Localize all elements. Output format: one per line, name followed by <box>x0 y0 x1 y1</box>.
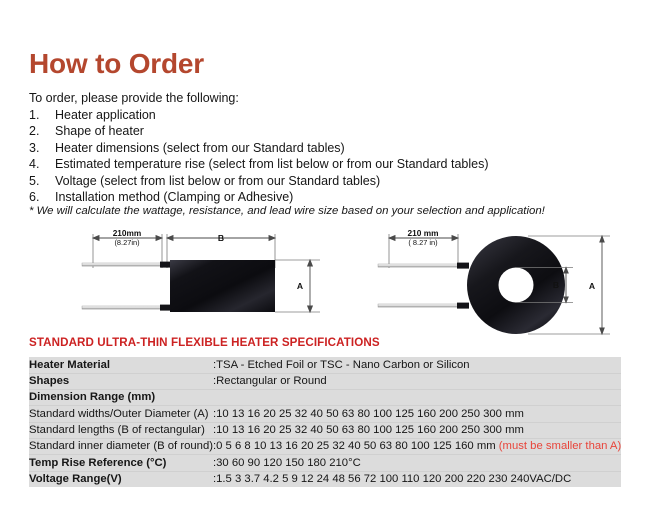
footnote-text: * We will calculate the wattage, resista… <box>29 205 545 217</box>
order-step-text: Shape of heater <box>55 124 619 138</box>
order-step-item: 5.Voltage (select from list below or fro… <box>29 174 619 190</box>
page-title: How to Order <box>29 50 204 78</box>
order-step-item: 4.Estimated temperature rise (select fro… <box>29 157 619 173</box>
round-lead-length-label-line1: 210 mm <box>408 228 439 238</box>
spec-table-row: Standard widths/Outer Diameter (A):10 13… <box>29 406 621 422</box>
spec-heading: STANDARD ULTRA-THIN FLEXIBLE HEATER SPEC… <box>29 336 380 349</box>
order-step-number: 2. <box>29 124 55 138</box>
rect-lead-length-label-line2: (8.27in) <box>114 238 139 247</box>
heater-diagrams: 210mm (8.27in) B A <box>0 228 650 336</box>
spec-table: Heater Material:TSA - Etched Foil or TSC… <box>29 357 621 487</box>
order-step-item: 1.Heater application <box>29 108 619 124</box>
intro-text: To order, please provide the following: <box>29 91 239 105</box>
spec-row-label: Standard inner diameter (B of round) <box>29 438 213 454</box>
spec-table-row: Standard lengths (B of rectangular):10 1… <box>29 422 621 438</box>
spec-table-row: Heater Material:TSA - Etched Foil or TSC… <box>29 357 621 373</box>
spec-table-row: Shapes:Rectangular or Round <box>29 373 621 389</box>
order-step-text: Heater dimensions (select from our Stand… <box>55 141 619 155</box>
order-step-number: 6. <box>29 190 55 204</box>
round-lead-length-label-line2: ( 8.27 in) <box>408 238 437 247</box>
spec-table-body: Heater Material:TSA - Etched Foil or TSC… <box>29 357 621 487</box>
spec-table-row: Dimension Range (mm) <box>29 390 621 406</box>
round-outer-diameter-label: A <box>589 281 595 291</box>
rectangular-heater-diagram: 210mm (8.27in) B A <box>62 228 344 336</box>
order-step-number: 1. <box>29 108 55 122</box>
rect-lead-length-label-line1: 210mm <box>113 228 142 238</box>
round-lead-connector-top <box>457 263 469 269</box>
spec-row-value: 10 13 16 20 25 32 40 50 63 80 100 125 16… <box>216 422 621 438</box>
spec-row-value: 10 13 16 20 25 32 40 50 63 80 100 125 16… <box>216 406 621 422</box>
order-step-text: Voltage (select from list below or from … <box>55 174 619 188</box>
round-lead-connector-bottom <box>457 303 469 309</box>
order-step-item: 2.Shape of heater <box>29 124 619 140</box>
spec-row-value-note: (must be smaller than A) <box>499 440 621 452</box>
order-step-text: Heater application <box>55 108 619 122</box>
spec-row-label: Temp Rise Reference (°C) <box>29 455 213 471</box>
spec-row-value <box>216 390 621 406</box>
rectangular-heater-body <box>170 260 275 312</box>
spec-table-row: Voltage Range(V):1.5 3 3.7 4.2 5 9 12 24… <box>29 471 621 487</box>
spec-row-value: 30 60 90 120 150 180 210°C <box>216 455 621 471</box>
spec-row-label: Dimension Range (mm) <box>29 390 213 406</box>
round-heater-body <box>467 236 565 334</box>
spec-table-row: Standard inner diameter (B of round):0 5… <box>29 438 621 454</box>
rect-height-dimension <box>308 260 313 312</box>
spec-row-value: Rectangular or Round <box>216 373 621 389</box>
spec-row-label: Standard widths/Outer Diameter (A) <box>29 406 213 422</box>
round-heater-inner-hole <box>499 268 534 303</box>
spec-row-value: 0 5 6 8 10 13 16 20 25 32 40 50 63 80 10… <box>216 438 621 454</box>
spec-table-row: Temp Rise Reference (°C):30 60 90 120 15… <box>29 455 621 471</box>
order-step-number: 4. <box>29 157 55 171</box>
order-step-item: 3.Heater dimensions (select from our Sta… <box>29 141 619 157</box>
spec-row-label: Heater Material <box>29 357 213 373</box>
order-steps-list: 1.Heater application2.Shape of heater3.H… <box>29 108 619 206</box>
spec-row-label: Voltage Range(V) <box>29 471 213 487</box>
order-step-number: 3. <box>29 141 55 155</box>
order-step-text: Installation method (Clamping or Adhesiv… <box>55 190 619 204</box>
order-step-item: 6.Installation method (Clamping or Adhes… <box>29 190 619 206</box>
order-step-number: 5. <box>29 174 55 188</box>
round-outer-dimension <box>600 236 604 334</box>
rect-height-label: A <box>297 281 303 291</box>
rect-width-label: B <box>218 233 224 243</box>
spec-row-value-text: 0 5 6 8 10 13 16 20 25 32 40 50 63 80 10… <box>216 440 499 452</box>
spec-row-label: Shapes <box>29 373 213 389</box>
round-inner-diameter-label: B <box>553 280 559 290</box>
spec-row-value: 1.5 3 3.7 4.2 5 9 12 24 48 56 72 100 110… <box>216 471 621 487</box>
order-step-text: Estimated temperature rise (select from … <box>55 157 619 171</box>
round-heater-diagram: 210 mm ( 8.27 in) B A <box>358 228 638 336</box>
rect-lead-wires <box>82 262 172 311</box>
spec-row-label: Standard lengths (B of rectangular) <box>29 422 213 438</box>
round-lead-wires <box>378 263 469 309</box>
spec-row-value: TSA - Etched Foil or TSC - Nano Carbon o… <box>216 357 621 373</box>
